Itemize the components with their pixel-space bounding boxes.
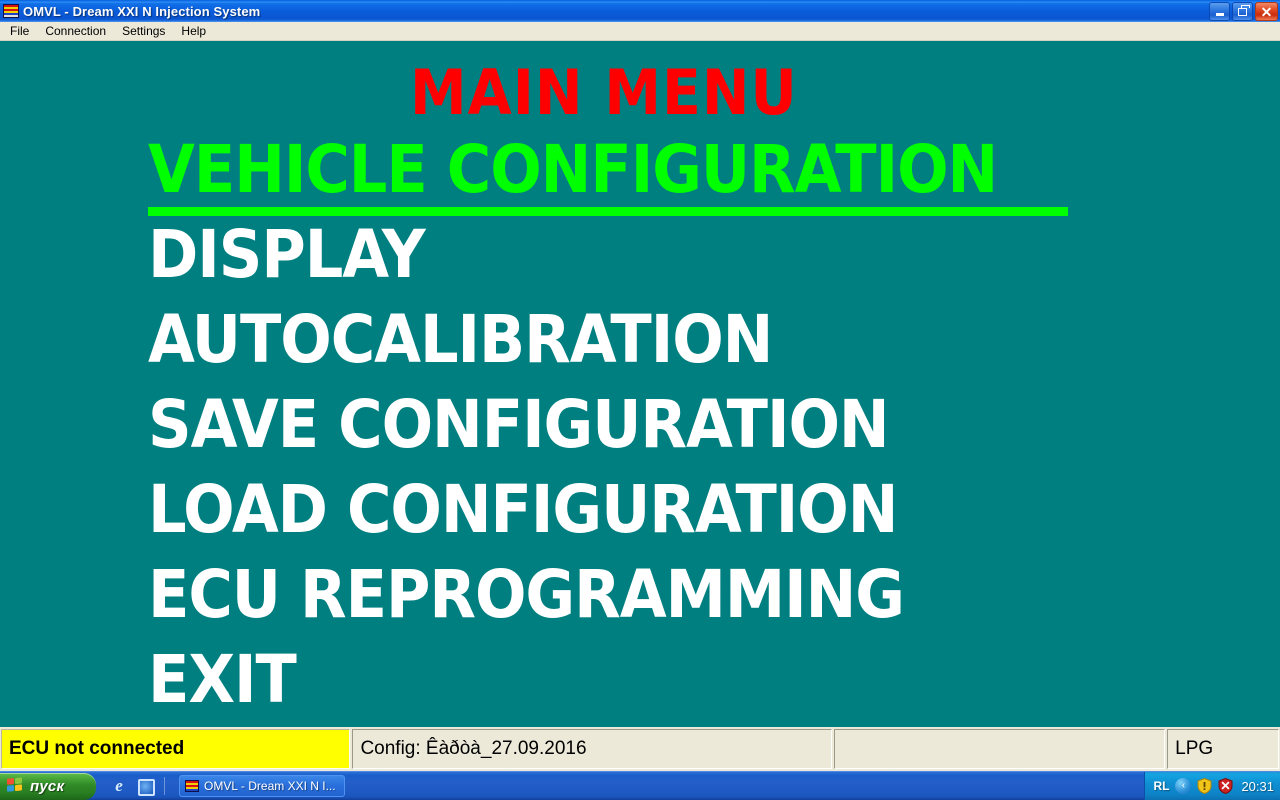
start-button[interactable]: пуск <box>0 773 96 800</box>
menu-option-label: SAVE CONFIGURATION <box>148 392 889 458</box>
status-config: Config: Êàðòà_27.09.2016 <box>352 729 831 769</box>
taskbar-item-label: OMVL - Dream XXI N I... <box>204 779 336 793</box>
selection-underline <box>148 207 1068 216</box>
window-title: OMVL - Dream XXI N Injection System <box>23 4 260 19</box>
status-fuel-mode: LPG <box>1167 729 1279 769</box>
show-hidden-icons-icon[interactable]: ‹ <box>1175 778 1191 794</box>
app-striped-icon <box>3 4 19 18</box>
minimize-button[interactable] <box>1209 2 1230 21</box>
menu-option-autocalibration[interactable]: AUTOCALIBRATION <box>148 307 1248 392</box>
application-window: OMVL - Dream XXI N Injection System ✕ Fi… <box>0 0 1280 800</box>
taskbar-divider <box>164 777 165 795</box>
app-striped-icon <box>185 780 199 792</box>
menu-item-file[interactable]: File <box>2 22 37 40</box>
quick-launch-bar <box>110 777 165 795</box>
client-area: MAIN MENU VEHICLE CONFIGURATION DISPLAY … <box>0 42 1280 727</box>
menu-bar: File Connection Settings Help <box>0 22 1280 41</box>
clock[interactable]: 20:31 <box>1241 779 1274 794</box>
close-button[interactable]: ✕ <box>1255 2 1278 21</box>
window-controls: ✕ <box>1209 2 1278 21</box>
taskbar: пуск OMVL - Dream XXI N I... RL ‹ <box>0 771 1280 800</box>
status-connection: ECU not connected <box>1 729 350 769</box>
page-title: MAIN MENU <box>410 62 798 124</box>
menu-option-label: VEHICLE CONFIGURATION <box>148 137 997 203</box>
menu-item-help[interactable]: Help <box>173 22 214 40</box>
menu-option-label: AUTOCALIBRATION <box>148 307 772 373</box>
taskbar-item-omvl[interactable]: OMVL - Dream XXI N I... <box>179 775 345 797</box>
security-alert-shield-icon[interactable] <box>1218 778 1233 794</box>
menu-option-label: DISPLAY <box>148 222 425 288</box>
menu-item-connection[interactable]: Connection <box>37 22 114 40</box>
status-bar: ECU not connected Config: Êàðòà_27.09.20… <box>0 727 1280 771</box>
status-empty <box>834 729 1165 769</box>
internet-explorer-icon[interactable] <box>110 777 128 795</box>
menu-option-label: EXIT <box>148 647 296 713</box>
restore-icon <box>1238 8 1247 16</box>
restore-button[interactable] <box>1232 2 1253 21</box>
menu-option-exit[interactable]: EXIT <box>148 647 1248 727</box>
launch-app-icon[interactable] <box>136 777 154 795</box>
menu-option-vehicle-configuration[interactable]: VEHICLE CONFIGURATION <box>148 137 1248 222</box>
windows-logo-icon <box>7 777 24 794</box>
start-button-label: пуск <box>30 778 64 795</box>
menu-option-load-configuration[interactable]: LOAD CONFIGURATION <box>148 477 1248 562</box>
menu-item-settings[interactable]: Settings <box>114 22 173 40</box>
main-menu-list: VEHICLE CONFIGURATION DISPLAY AUTOCALIBR… <box>148 137 1248 727</box>
menu-option-save-configuration[interactable]: SAVE CONFIGURATION <box>148 392 1248 477</box>
menu-option-label: ECU REPROGRAMMING <box>148 562 904 628</box>
system-tray: RL ‹ 20:31 <box>1144 772 1280 800</box>
language-indicator[interactable]: RL <box>1153 779 1169 793</box>
menu-option-label: LOAD CONFIGURATION <box>148 477 897 543</box>
security-warning-shield-icon[interactable] <box>1197 778 1212 794</box>
title-bar: OMVL - Dream XXI N Injection System ✕ <box>0 0 1280 22</box>
minimize-icon <box>1216 13 1224 16</box>
menu-option-display[interactable]: DISPLAY <box>148 222 1248 307</box>
menu-option-ecu-reprogramming[interactable]: ECU REPROGRAMMING <box>148 562 1248 647</box>
close-icon: ✕ <box>1261 5 1273 19</box>
